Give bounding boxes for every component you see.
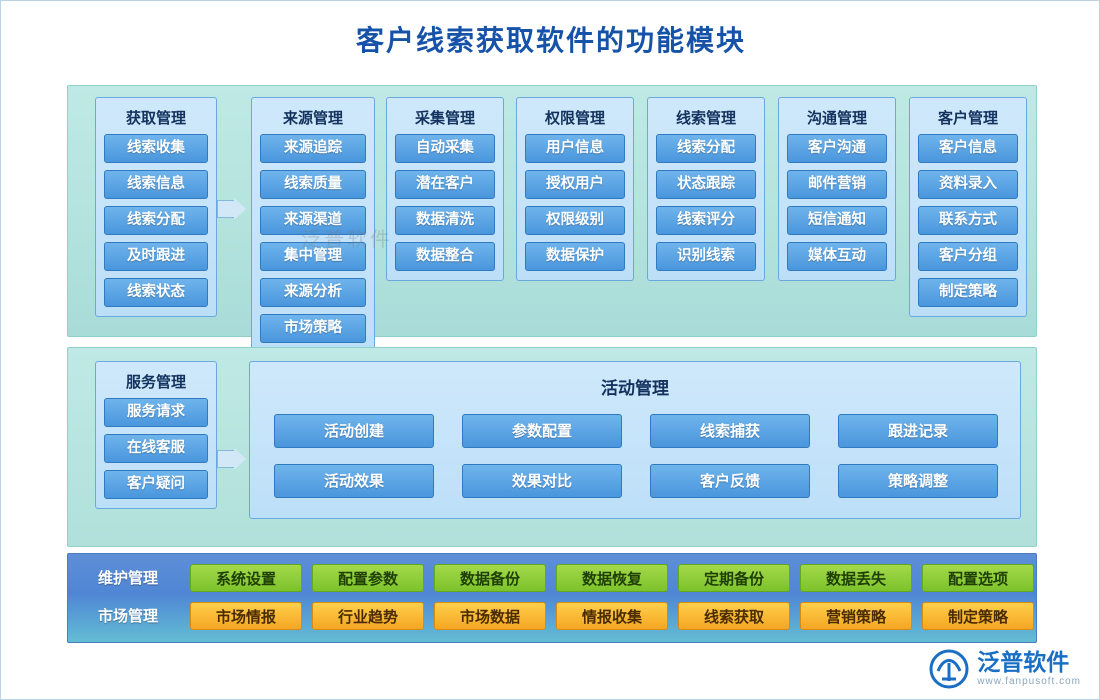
brand-logo: 泛普软件 www.fanpusoft.com: [929, 649, 1081, 689]
module-column-leads[interactable]: 线索管理 线索分配 状态跟踪 线索评分 识别线索: [647, 97, 765, 281]
logo-mark-icon: [929, 649, 969, 689]
module-item[interactable]: 线索质量: [260, 170, 366, 199]
module-item[interactable]: 状态跟踪: [656, 170, 756, 199]
bottom-row-maintenance: 维护管理 系统设置 配置参数 数据备份 数据恢复 定期备份 数据丢失 配置选项: [68, 564, 1036, 594]
activity-item[interactable]: 线索捕获: [650, 414, 810, 448]
module-item[interactable]: 来源追踪: [260, 134, 366, 163]
activity-item[interactable]: 跟进记录: [838, 414, 998, 448]
module-column-service[interactable]: 服务管理 服务请求 在线客服 客户疑问: [95, 361, 217, 509]
module-item[interactable]: 及时跟进: [104, 242, 208, 271]
module-item[interactable]: 数据保护: [525, 242, 625, 271]
bottom-item[interactable]: 数据恢复: [556, 564, 668, 592]
module-item[interactable]: 数据清洗: [395, 206, 495, 235]
module-item[interactable]: 线索评分: [656, 206, 756, 235]
module-column-collection[interactable]: 采集管理 自动采集 潜在客户 数据清洗 数据整合: [386, 97, 504, 281]
module-item[interactable]: 媒体互动: [787, 242, 887, 271]
module-item[interactable]: 来源渠道: [260, 206, 366, 235]
bottom-item[interactable]: 市场数据: [434, 602, 546, 630]
module-item[interactable]: 自动采集: [395, 134, 495, 163]
bottom-item[interactable]: 行业趋势: [312, 602, 424, 630]
column-title: 线索管理: [656, 104, 756, 134]
activity-grid: 活动创建 参数配置 线索捕获 跟进记录 活动效果 效果对比 客户反馈 策略调整: [274, 414, 998, 498]
module-column-acquisition[interactable]: 获取管理 线索收集 线索信息 线索分配 及时跟进 线索状态: [95, 97, 217, 317]
bottom-item[interactable]: 市场情报: [190, 602, 302, 630]
activity-item[interactable]: 策略调整: [838, 464, 998, 498]
module-item[interactable]: 线索信息: [104, 170, 208, 199]
module-column-source[interactable]: 来源管理 来源追踪 线索质量 来源渠道 集中管理 来源分析 市场策略: [251, 97, 375, 353]
module-item[interactable]: 市场策略: [260, 314, 366, 343]
module-item[interactable]: 线索收集: [104, 134, 208, 163]
module-item[interactable]: 邮件营销: [787, 170, 887, 199]
module-column-permission[interactable]: 权限管理 用户信息 授权用户 权限级别 数据保护: [516, 97, 634, 281]
bottom-row-market: 市场管理 市场情报 行业趋势 市场数据 情报收集 线索获取 营销策略 制定策略: [68, 602, 1036, 632]
bottom-item[interactable]: 线索获取: [678, 602, 790, 630]
logo-url: www.fanpusoft.com: [977, 676, 1081, 687]
module-item[interactable]: 授权用户: [525, 170, 625, 199]
module-item[interactable]: 识别线索: [656, 242, 756, 271]
column-title: 权限管理: [525, 104, 625, 134]
bottom-item[interactable]: 系统设置: [190, 564, 302, 592]
module-item[interactable]: 客户分组: [918, 242, 1018, 271]
module-item[interactable]: 集中管理: [260, 242, 366, 271]
module-item[interactable]: 制定策略: [918, 278, 1018, 307]
bottom-item[interactable]: 制定策略: [922, 602, 1034, 630]
module-item[interactable]: 在线客服: [104, 434, 208, 463]
activity-item[interactable]: 活动创建: [274, 414, 434, 448]
module-column-communication[interactable]: 沟通管理 客户沟通 邮件营销 短信通知 媒体互动: [778, 97, 896, 281]
module-item[interactable]: 线索状态: [104, 278, 208, 307]
module-item[interactable]: 用户信息: [525, 134, 625, 163]
bottom-item[interactable]: 定期备份: [678, 564, 790, 592]
column-title: 采集管理: [395, 104, 495, 134]
module-item[interactable]: 权限级别: [525, 206, 625, 235]
bottom-item[interactable]: 数据备份: [434, 564, 546, 592]
activity-item[interactable]: 客户反馈: [650, 464, 810, 498]
module-item[interactable]: 来源分析: [260, 278, 366, 307]
bottom-item[interactable]: 配置参数: [312, 564, 424, 592]
module-item[interactable]: 短信通知: [787, 206, 887, 235]
logo-name: 泛普软件: [977, 651, 1081, 675]
page-title: 客户线索获取软件的功能模块: [1, 19, 1100, 59]
row-label: 维护管理: [80, 564, 176, 592]
diagram-page: 客户线索获取软件的功能模块 获取管理 线索收集 线索信息 线索分配 及时跟进 线…: [0, 0, 1100, 700]
module-item[interactable]: 线索分配: [656, 134, 756, 163]
module-item[interactable]: 数据整合: [395, 242, 495, 271]
activity-item[interactable]: 效果对比: [462, 464, 622, 498]
bottom-item[interactable]: 营销策略: [800, 602, 912, 630]
module-item[interactable]: 线索分配: [104, 206, 208, 235]
activity-item[interactable]: 参数配置: [462, 414, 622, 448]
module-column-customer[interactable]: 客户管理 客户信息 资料录入 联系方式 客户分组 制定策略: [909, 97, 1027, 317]
module-item[interactable]: 联系方式: [918, 206, 1018, 235]
module-item[interactable]: 潜在客户: [395, 170, 495, 199]
activity-item[interactable]: 活动效果: [274, 464, 434, 498]
module-item[interactable]: 客户沟通: [787, 134, 887, 163]
module-item[interactable]: 客户疑问: [104, 470, 208, 499]
row-label: 市场管理: [80, 602, 176, 630]
activity-title: 活动管理: [250, 362, 1020, 399]
bottom-item[interactable]: 数据丢失: [800, 564, 912, 592]
module-item[interactable]: 资料录入: [918, 170, 1018, 199]
column-title: 客户管理: [918, 104, 1018, 134]
bottom-item[interactable]: 配置选项: [922, 564, 1034, 592]
column-title: 服务管理: [104, 368, 208, 398]
column-title: 来源管理: [260, 104, 366, 134]
column-title: 获取管理: [104, 104, 208, 134]
bottom-module-panel: 维护管理 系统设置 配置参数 数据备份 数据恢复 定期备份 数据丢失 配置选项 …: [67, 553, 1037, 643]
module-item[interactable]: 客户信息: [918, 134, 1018, 163]
column-title: 沟通管理: [787, 104, 887, 134]
bottom-item[interactable]: 情报收集: [556, 602, 668, 630]
module-item[interactable]: 服务请求: [104, 398, 208, 427]
activity-management-group: 活动管理 活动创建 参数配置 线索捕获 跟进记录 活动效果 效果对比 客户反馈 …: [249, 361, 1021, 519]
